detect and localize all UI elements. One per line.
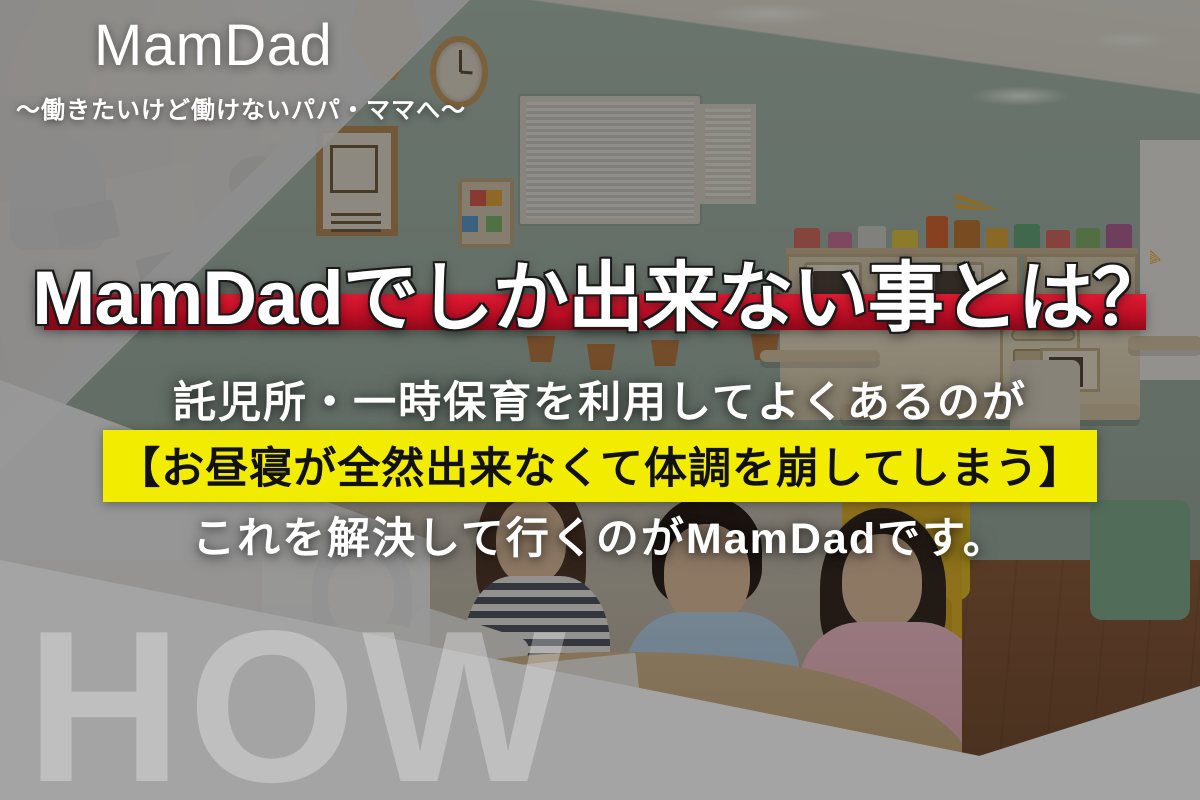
brand-logo: MamDad [94, 16, 332, 77]
headline-block: MamDadでしか出来ない事とは？ [0, 236, 1200, 340]
how-watermark: HOW [26, 598, 572, 800]
hero-banner: HOW MamDad 〜働きたいけど働けないパパ・ママへ〜 MamDadでしか出… [0, 0, 1200, 800]
body-line-2-highlight: 【お昼寝が全然出来なくて体調を崩してしまう】 [103, 430, 1096, 502]
brand-tagline: 〜働きたいけど働けないパパ・ママへ〜 [16, 90, 466, 125]
highlight-line-wrapper: 【お昼寝が全然出来なくて体調を崩してしまう】 [0, 430, 1200, 502]
body-line-1: 託児所・一時保育を利用してよくあるのが [0, 368, 1200, 430]
body-line-3: これを解決して行くのがMamDadです。 [0, 504, 1200, 566]
page-title: MamDadでしか出来ない事とは？ [0, 236, 1200, 346]
